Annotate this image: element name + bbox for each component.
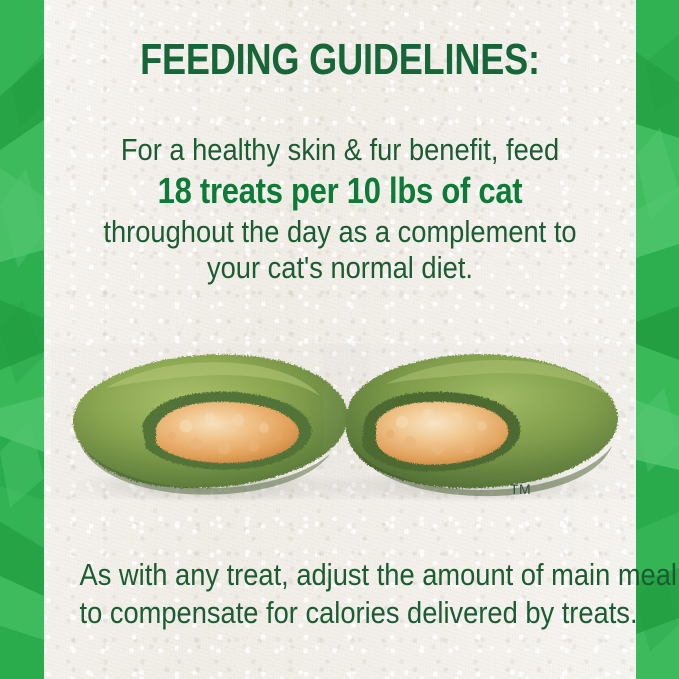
left-green-accent-bar (0, 0, 44, 679)
product-photo-treats (46, 340, 634, 505)
treat-right (346, 354, 618, 496)
instruction-line-3: throughout the day as a complement to (80, 214, 601, 250)
trademark-symbol: TM (510, 481, 531, 497)
treats-illustration (46, 340, 634, 505)
content-column: FEEDING GUIDELINES: For a healthy skin &… (44, 0, 636, 679)
instruction-line-4: your cat's normal diet. (80, 250, 601, 286)
instruction-line-dosage: 18 treats per 10 lbs of cat (85, 168, 594, 214)
disclaimer-line-2: to compensate for calories delivered by … (80, 594, 601, 632)
disclaimer-line-1: As with any treat, adjust the amount of … (80, 556, 601, 594)
treat-left (73, 354, 347, 494)
feeding-instructions-bottom: As with any treat, adjust the amount of … (44, 556, 636, 632)
feeding-guidelines-panel: FEEDING GUIDELINES: For a healthy skin &… (0, 0, 679, 679)
feeding-instructions-top: For a healthy skin & fur benefit, feed 1… (44, 132, 636, 286)
instruction-line-1: For a healthy skin & fur benefit, feed (80, 132, 601, 168)
left-facet-pattern (0, 0, 44, 679)
page-title: FEEDING GUIDELINES: (97, 36, 582, 84)
